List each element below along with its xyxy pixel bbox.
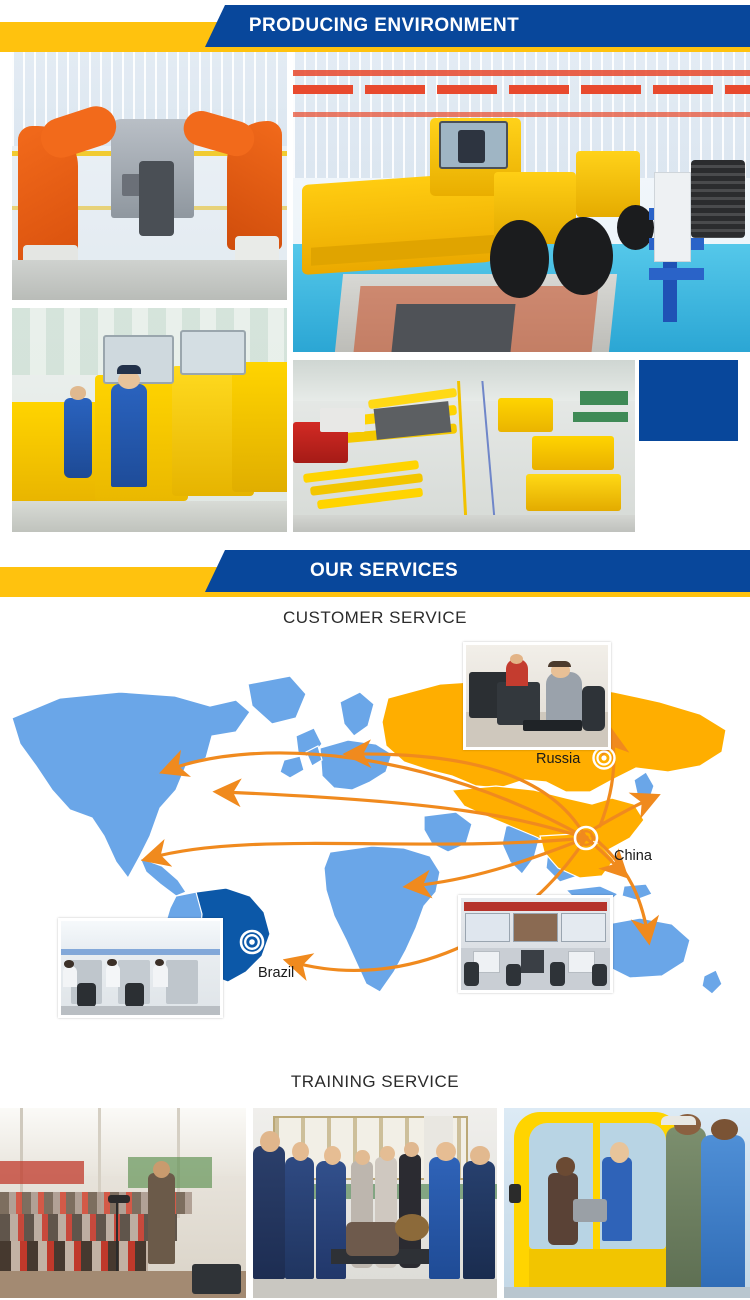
- inset-branch-office-photo: [58, 918, 223, 1018]
- training-photo-row: [0, 1108, 750, 1298]
- inset-control-room-photo: [458, 895, 613, 993]
- training-service-heading: TRAINING SERVICE: [0, 1072, 750, 1092]
- producing-photo-grid: [0, 52, 750, 542]
- banner-title-services: OUR SERVICES: [0, 550, 750, 592]
- photo-cab-assembly-workers: [12, 308, 287, 532]
- banner-producing-environment: PRODUCING ENVIRONMENT: [0, 0, 750, 52]
- banner-title-producing: PRODUCING ENVIRONMENT: [0, 5, 750, 47]
- map-label-china: China: [614, 848, 652, 864]
- map-label-russia: Russia: [536, 751, 580, 767]
- accent-block-blue: [639, 360, 738, 441]
- inset-call-center-photo: [463, 642, 611, 750]
- photo-wheel-loader-assembly-line: [293, 52, 750, 352]
- banner-our-services: OUR SERVICES: [0, 545, 750, 597]
- page-root: PRODUCING ENVIRONMENT: [0, 0, 750, 1300]
- marker-china-bullseye: [575, 827, 597, 849]
- photo-in-cab-operator-training: [504, 1108, 750, 1298]
- photo-robotic-welding-cell: [12, 52, 287, 300]
- photo-outdoor-training-seminar: [0, 1108, 246, 1298]
- marker-russia-bullseye: [594, 748, 615, 769]
- customer-service-heading: CUSTOMER SERVICE: [0, 608, 750, 628]
- photo-workshop-component-training: [253, 1108, 497, 1298]
- world-map-section: Russia China Brazil: [0, 640, 750, 1070]
- photo-crane-boom-yard: [293, 360, 635, 532]
- marker-brazil-bullseye: [241, 931, 263, 953]
- map-label-brazil: Brazil: [258, 965, 294, 981]
